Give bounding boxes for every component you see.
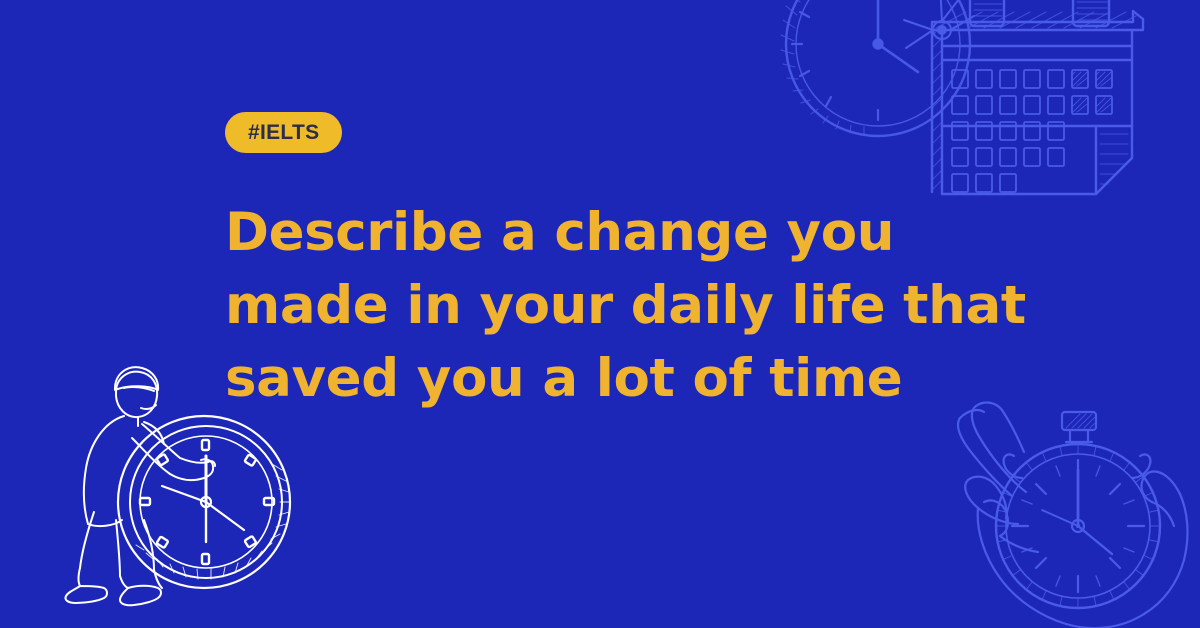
stopwatch-icon [996, 412, 1160, 608]
content-block: #IELTS Describe a change you made in you… [225, 112, 1025, 415]
hand-holding-stopwatch-illustration [954, 394, 1200, 628]
open-hand-icon [958, 403, 1187, 628]
page-title: Describe a change you made in your daily… [225, 196, 1015, 415]
large-clock-icon [118, 416, 290, 588]
topic-card: #IELTS Describe a change you made in you… [0, 0, 1200, 628]
person-figure-icon [65, 367, 215, 605]
headline-line-1: Describe a change you [225, 196, 1015, 269]
ielts-tag-badge[interactable]: #IELTS [225, 112, 342, 153]
pin-detail-icon [904, 0, 974, 48]
headline-line-3: saved you a lot of time [225, 342, 1015, 415]
headline-line-2: made in your daily life that [225, 269, 1015, 342]
